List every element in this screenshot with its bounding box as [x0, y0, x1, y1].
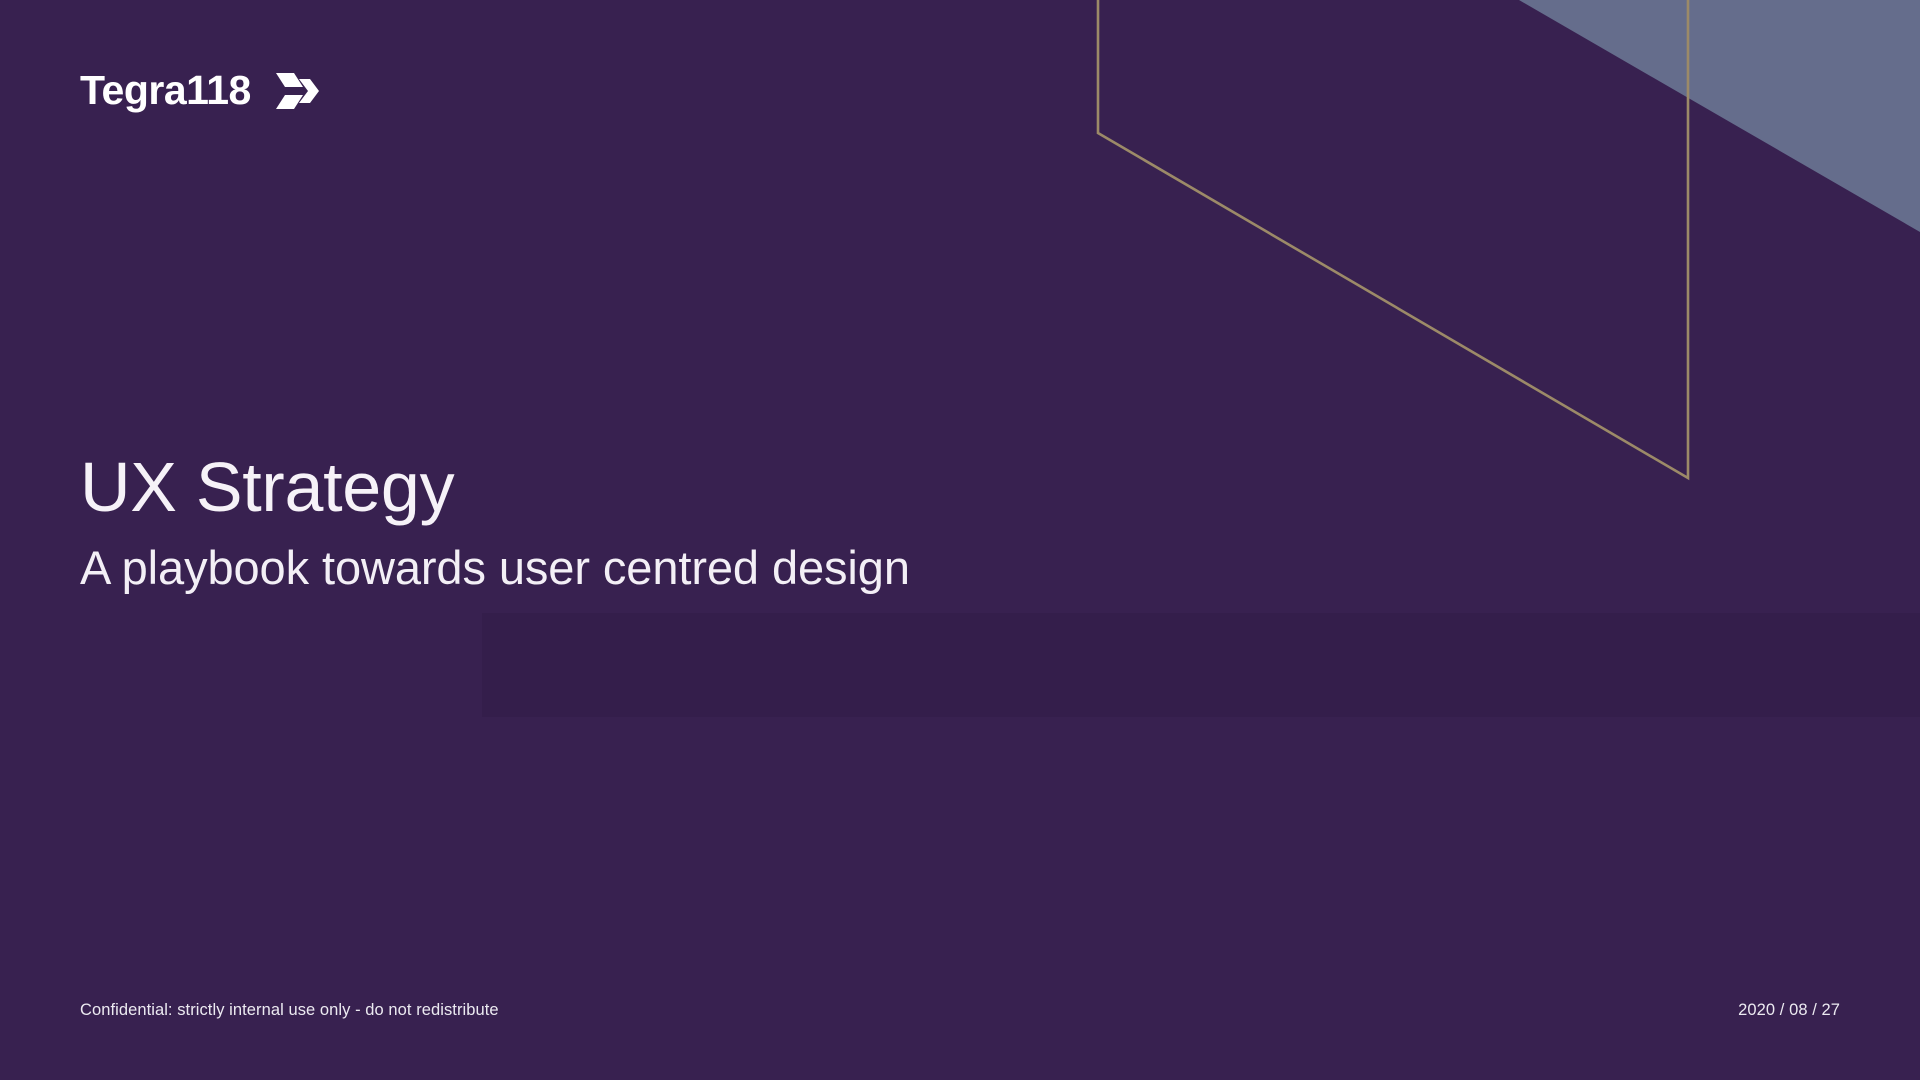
slide-footer: Confidential: strictly internal use only…: [80, 1002, 1840, 1019]
slate-diagonal-wedge: [1519, 0, 1920, 232]
slide-date: 2020 / 08 / 27: [1738, 1002, 1840, 1019]
tegra-chevron-icon: [269, 71, 319, 111]
headline-block: UX Strategy A playbook towards user cent…: [80, 452, 1380, 591]
confidentiality-note: Confidential: strictly internal use only…: [80, 1002, 499, 1019]
subtle-dark-panel: [482, 613, 1920, 717]
brand-wordmark: Tegra118: [80, 70, 251, 111]
page-title: UX Strategy: [80, 452, 1380, 522]
page-subtitle: A playbook towards user centred design: [80, 544, 1380, 591]
brand-logo[interactable]: Tegra118: [80, 62, 319, 118]
gold-angled-outline: [1098, 0, 1688, 478]
title-slide: Tegra118 UX Strategy A playbook towards …: [0, 0, 1920, 1080]
